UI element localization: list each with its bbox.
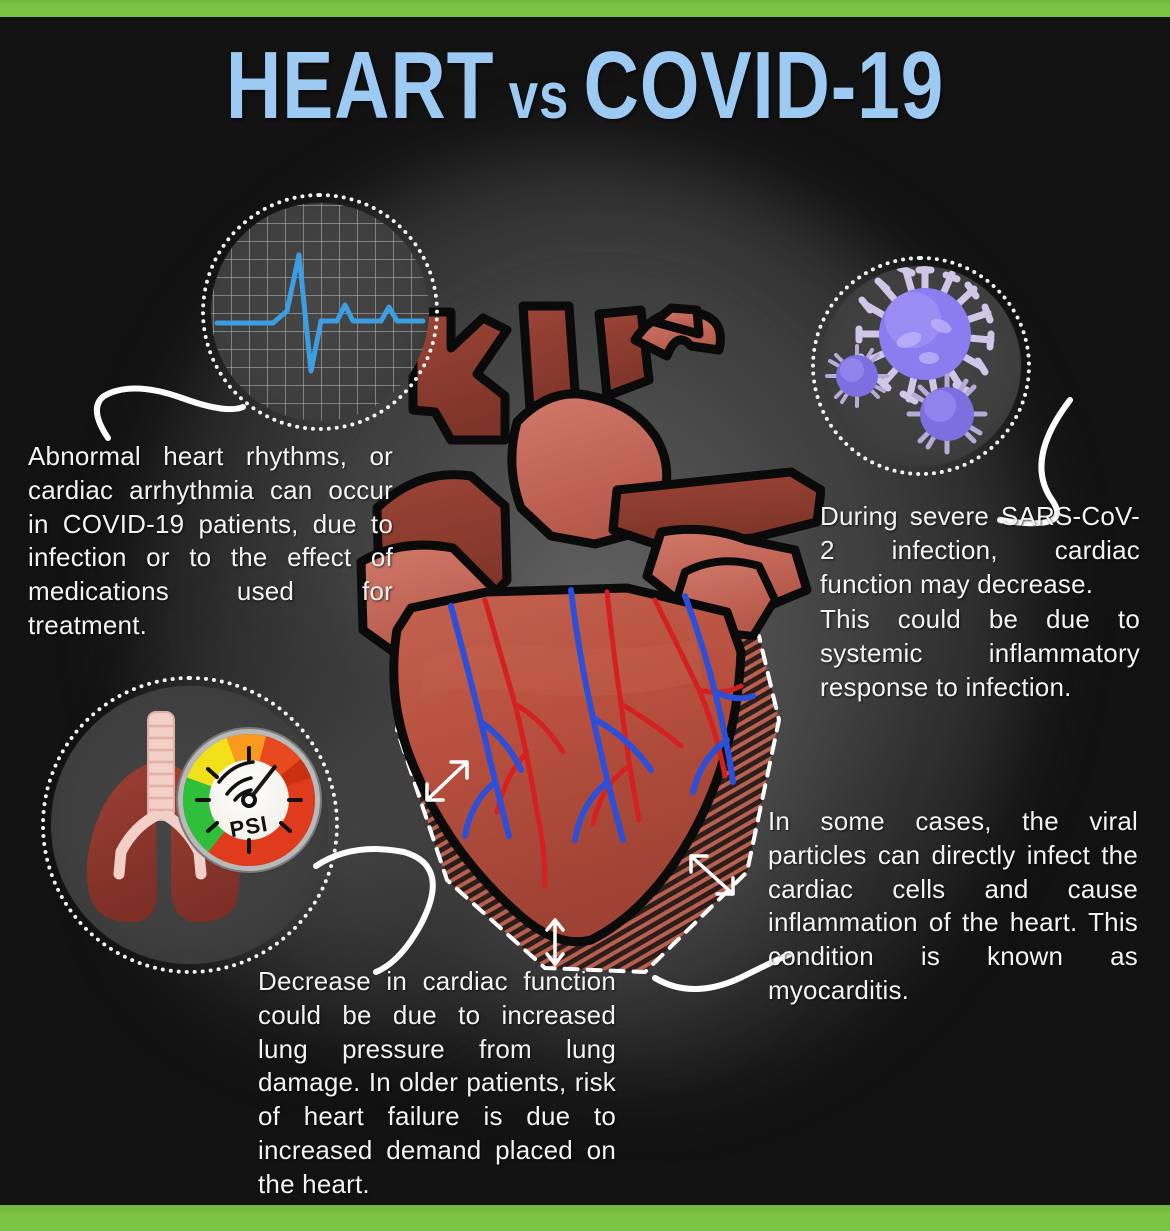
ecg-waveform-icon (211, 203, 429, 421)
virus-particle-small-left (827, 346, 887, 406)
title-word-covid: COVID-19 (584, 32, 945, 139)
badge-ecg-inner (211, 203, 429, 421)
callout-cardiac-function-p2: This could be due to systemic inflammato… (820, 603, 1140, 704)
bottom-accent-bar (0, 1205, 1170, 1231)
top-accent-bar (0, 0, 1170, 17)
callout-cardiac-function-p1: During severe SARS-CoV-2 infection, card… (820, 500, 1140, 601)
callout-arrhythmia: Abnormal heart rhythms, or cardiac arrhy… (28, 440, 393, 643)
callout-myocarditis-p1: In some cases, the viral particles can d… (768, 805, 1138, 1008)
callout-lung-pressure-p1: Decrease in cardiac function could be du… (258, 965, 616, 1202)
callout-myocarditis: In some cases, the viral particles can d… (768, 805, 1138, 1008)
badge-ecg[interactable] (211, 203, 429, 421)
coronavirus-icon (821, 266, 1021, 466)
virus-particle-large (859, 268, 991, 401)
callout-cardiac-function: During severe SARS-CoV-2 infection, card… (820, 500, 1140, 705)
badge-virus[interactable] (821, 266, 1021, 466)
title-word-vs: vs (494, 58, 583, 132)
gauge-hub (241, 792, 257, 808)
title-word-heart: HEART (226, 32, 495, 139)
badge-lungs[interactable]: PSI (51, 686, 329, 964)
badge-lungs-inner: PSI (51, 686, 329, 964)
page-title: HEARTvsCOVID-19 (117, 38, 1053, 134)
callout-arrhythmia-p1: Abnormal heart rhythms, or cardiac arrhy… (28, 440, 393, 643)
pressure-gauge: PSI (183, 734, 315, 866)
badge-virus-inner (821, 266, 1021, 466)
virus-particle-small-right (909, 376, 985, 452)
infographic-poster: HEARTvsCOVID-19 (0, 0, 1170, 1231)
callout-lung-pressure: Decrease in cardiac function could be du… (258, 965, 616, 1202)
